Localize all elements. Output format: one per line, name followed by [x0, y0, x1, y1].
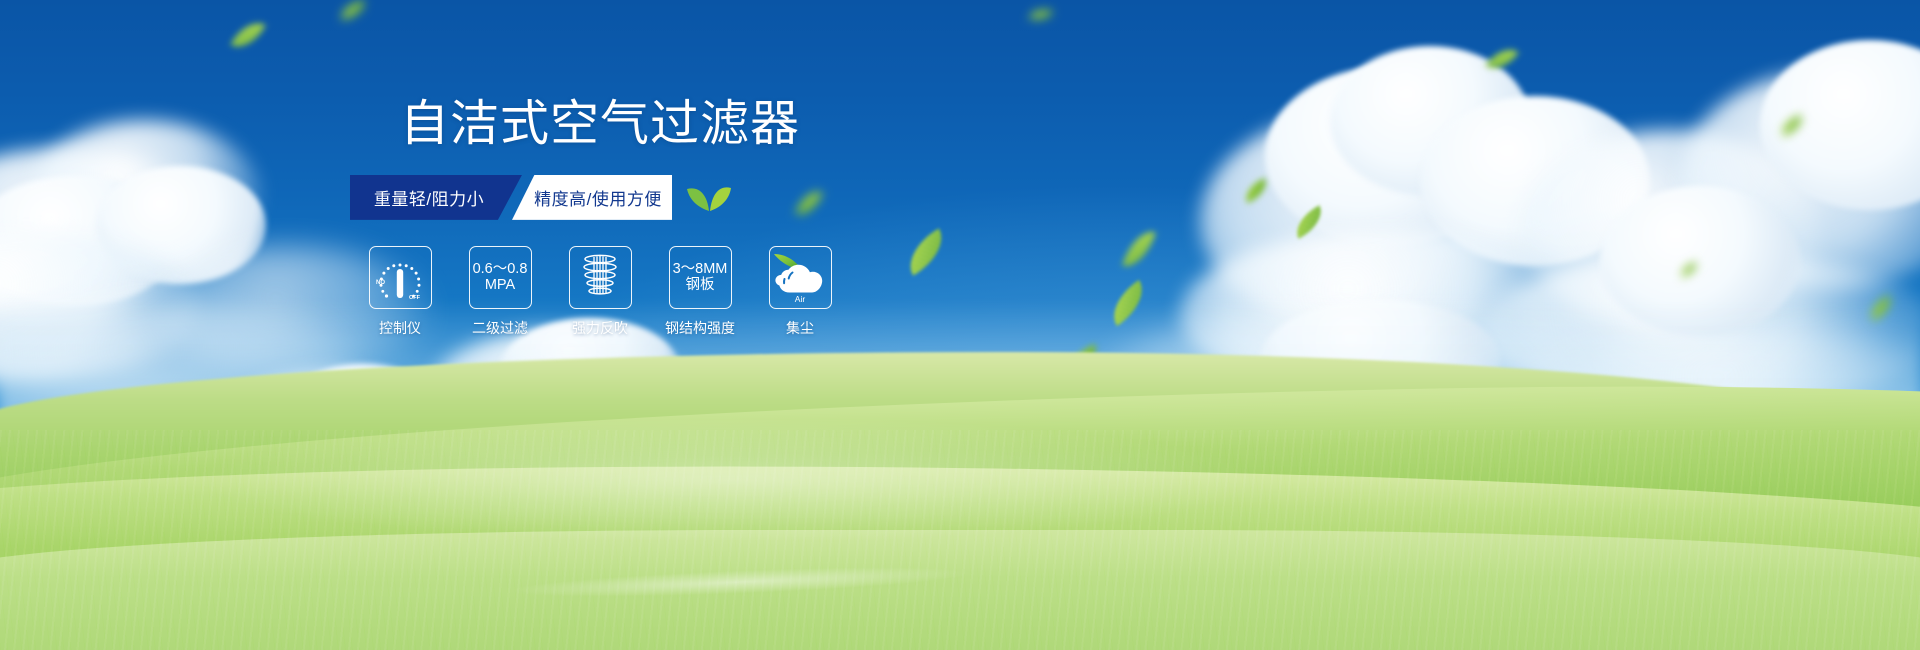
- product-hero-banner: 自洁式空气过滤器 重量轻/阻力小 精度高/使用方便: [0, 0, 1920, 650]
- steel-plate-text-icon: 3～8MM 钢板: [673, 261, 728, 293]
- banner-content: 自洁式空气过滤器 重量轻/阻力小 精度高/使用方便: [350, 96, 850, 338]
- pressure-range: 0.6～0.8: [473, 261, 528, 277]
- plate-material: 钢板: [673, 277, 728, 293]
- plate-thickness: 3～8MM: [673, 261, 728, 277]
- pressure-unit: MPA: [473, 277, 528, 293]
- feature-tab-group: 重量轻/阻力小 精度高/使用方便: [350, 175, 672, 220]
- feature-icon-box: NO OFF: [369, 246, 432, 309]
- title-leaf-icon: [686, 184, 732, 212]
- tab-lightweight-lowresistance[interactable]: 重量轻/阻力小: [350, 175, 522, 220]
- feature-label: 强力反吹: [572, 318, 628, 338]
- filter-discs-icon: [578, 253, 622, 301]
- feature-label: 二级过滤: [472, 318, 528, 338]
- feature-item-steel-structure-strength[interactable]: 3～8MM 钢板 钢结构强度: [650, 246, 750, 338]
- feature-item-strong-backblow[interactable]: 强力反吹: [550, 246, 650, 338]
- air-label: Air: [795, 294, 806, 304]
- feature-item-control-instrument[interactable]: NO OFF 控制仪: [350, 246, 450, 338]
- feature-icon-box: 0.6～0.8 MPA: [469, 246, 532, 309]
- dial-off-label: OFF: [409, 295, 421, 301]
- feature-icon-box: 3～8MM 钢板: [669, 246, 732, 309]
- feature-label: 控制仪: [379, 318, 421, 338]
- grass-light-sheen: [0, 420, 1920, 540]
- feature-icon-box: [569, 246, 632, 309]
- page-title: 自洁式空气过滤器: [350, 96, 850, 154]
- feature-label: 钢结构强度: [665, 318, 735, 338]
- feature-icon-box: Air: [769, 246, 832, 309]
- dial-on-label: NO: [376, 280, 385, 286]
- pressure-text-icon: 0.6～0.8 MPA: [473, 261, 528, 293]
- feature-icon-row: NO OFF 控制仪 0.6～0.8 MPA 二级过滤: [350, 246, 850, 338]
- feature-label: 集尘: [786, 318, 814, 338]
- feature-item-dust-collection[interactable]: Air 集尘: [750, 246, 850, 338]
- control-dial-icon: NO OFF: [372, 249, 428, 305]
- feature-item-secondary-filtration[interactable]: 0.6～0.8 MPA 二级过滤: [450, 246, 550, 338]
- tab-highprecision-easyuse[interactable]: 精度高/使用方便: [512, 175, 672, 220]
- air-cloud-icon: Air: [771, 248, 829, 306]
